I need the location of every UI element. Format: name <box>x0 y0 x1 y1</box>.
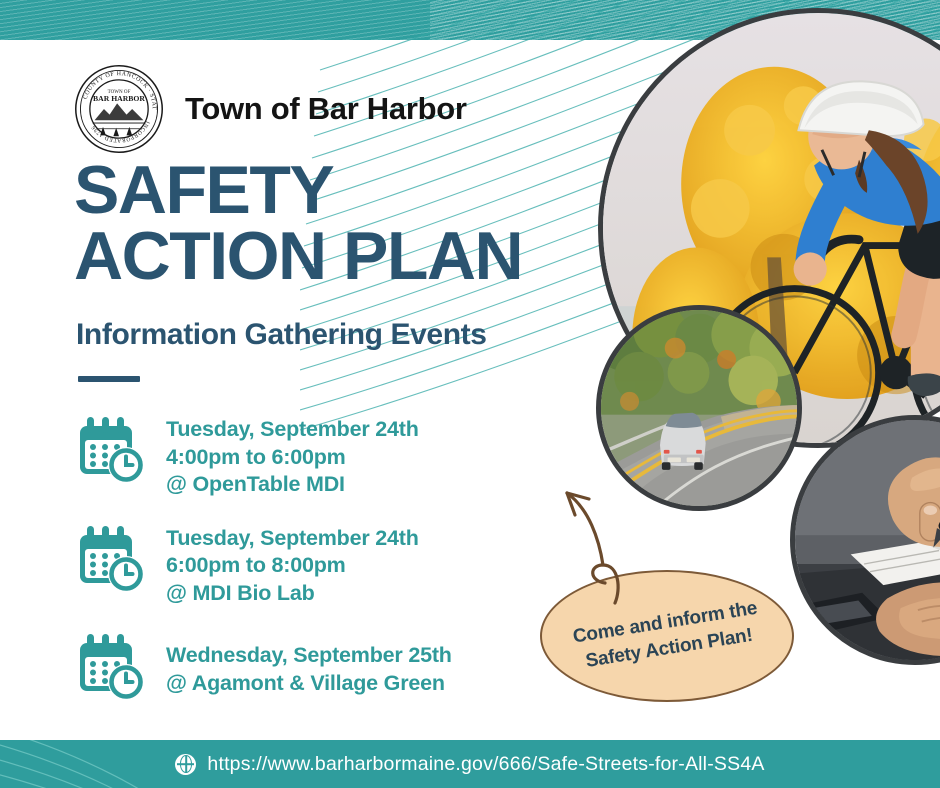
brand-header: COUNTY OF HANCOCK · STATE OF MAINE INCOR… <box>72 62 467 156</box>
callout-bubble: Come and inform the Safety Action Plan! <box>540 560 800 710</box>
event-location: @ Agamont & Village Green <box>166 670 452 698</box>
footer-url-bar: https://www.barharbormaine.gov/666/Safe-… <box>0 740 940 788</box>
title-line-1: SAFETY <box>74 152 333 228</box>
event-location: @ MDI Bio Lab <box>166 580 419 608</box>
event-time: 6:00pm to 8:00pm <box>166 552 419 580</box>
callout-text: Come and inform the Safety Action Plan! <box>571 596 763 676</box>
list-item: Tuesday, September 24th 6:00pm to 8:00pm… <box>74 521 544 608</box>
event-date: Wednesday, September 25th <box>166 642 452 670</box>
org-name: Town of Bar Harbor <box>185 91 467 127</box>
website-url[interactable]: https://www.barharbormaine.gov/666/Safe-… <box>207 753 764 776</box>
globe-icon <box>175 754 196 775</box>
page-title: SAFETY ACTION PLAN <box>74 158 522 290</box>
event-details: Tuesday, September 24th 6:00pm to 8:00pm… <box>166 521 419 608</box>
calendar-clock-icon <box>74 414 150 486</box>
calendar-clock-icon <box>74 631 150 703</box>
town-seal-icon: COUNTY OF HANCOCK · STATE OF MAINE INCOR… <box>72 62 166 156</box>
event-time: 4:00pm to 6:00pm <box>166 444 419 472</box>
event-location: @ OpenTable MDI <box>166 471 419 499</box>
list-item: Tuesday, September 24th 4:00pm to 6:00pm… <box>74 412 544 499</box>
svg-text:BAR HARBOR: BAR HARBOR <box>93 94 145 103</box>
callout-bubble-shape: Come and inform the Safety Action Plan! <box>540 570 794 702</box>
title-line-2: ACTION PLAN <box>74 224 522 290</box>
events-list: Tuesday, September 24th 4:00pm to 6:00pm… <box>74 412 544 703</box>
calendar-clock-icon <box>74 523 150 595</box>
page-subtitle: Information Gathering Events <box>76 318 487 352</box>
road-car-photo <box>596 305 802 511</box>
event-date: Tuesday, September 24th <box>166 525 419 553</box>
event-date: Tuesday, September 24th <box>166 416 419 444</box>
title-divider <box>78 376 140 382</box>
event-details: Tuesday, September 24th 4:00pm to 6:00pm… <box>166 412 419 499</box>
event-details: Wednesday, September 25th @ Agamont & Vi… <box>166 629 452 697</box>
list-item: Wednesday, September 25th @ Agamont & Vi… <box>74 629 544 703</box>
safety-action-plan-flyer: COUNTY OF HANCOCK · STATE OF MAINE INCOR… <box>0 0 940 788</box>
writing-hands-photo <box>790 415 940 665</box>
